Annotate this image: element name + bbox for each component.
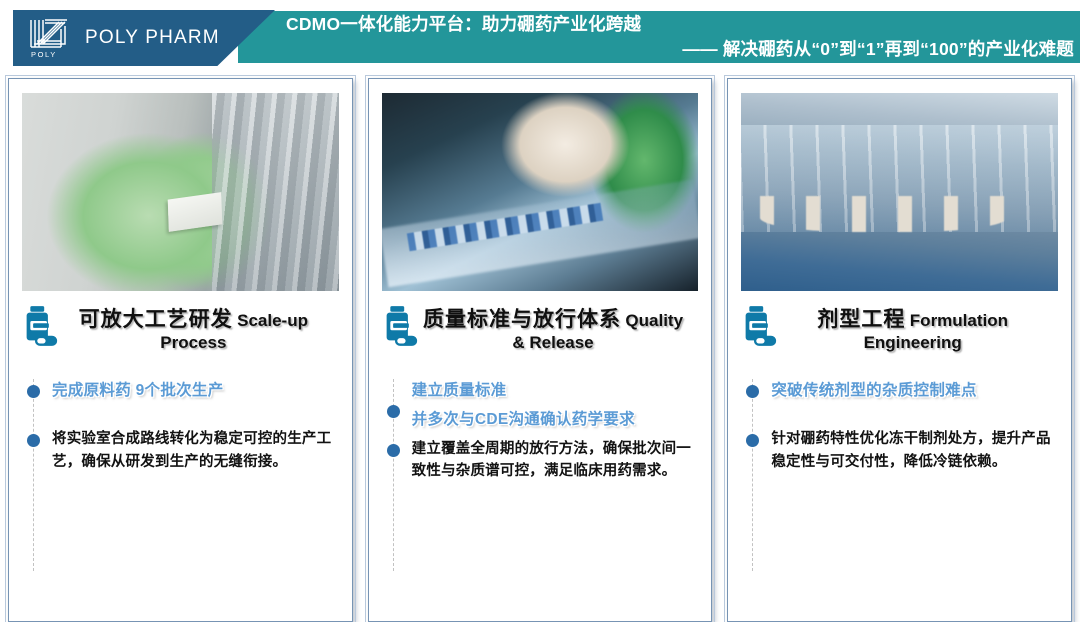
bullet-dot-icon <box>387 405 400 418</box>
card-title-cn: 剂型工程 <box>817 308 905 331</box>
card-title-group: 质量标准与放行体系 Quality & Release <box>422 303 699 353</box>
page-title-line2: —— 解决硼药从“0”到“1”再到“100”的产业化难题 <box>272 37 1078 62</box>
card-scale-up-process[interactable]: 可放大工艺研发 Scale-up Process 完成原料药 9个批次生产 将实… <box>8 78 353 622</box>
card-formulation-engineering[interactable]: 剂型工程 Formulation Engineering 突破传统剂型的杂质控制… <box>727 78 1072 622</box>
card-photo <box>382 93 699 291</box>
medicine-bottle-icon <box>22 305 62 353</box>
brand-block: POLY POLY PHARM <box>13 10 275 66</box>
medicine-bottle-icon <box>741 305 781 353</box>
card-bullet-list: 突破传统剂型的杂质控制难点 针对硼药特性优化冻干制剂处方，提升产品稳定性与可交付… <box>741 379 1058 611</box>
bullet-text: 建立质量标准 <box>412 382 507 399</box>
bullet-item: 建立质量标准 <box>412 379 699 402</box>
card-title-group: 可放大工艺研发 Scale-up Process <box>62 303 339 353</box>
card-bullet-list: 建立质量标准 并多次与CDE沟通确认药学要求 建立覆盖全周期的放行方法，确保批次… <box>382 379 699 611</box>
logo-mark-caption: POLY <box>31 50 57 59</box>
poly-monogram-icon: POLY <box>27 17 71 59</box>
card-photo <box>22 93 339 291</box>
bullet-item: 完成原料药 9个批次生产 <box>52 379 339 402</box>
bullet-item: 将实验室合成路线转化为稳定可控的生产工艺，确保从研发到生产的无缝衔接。 <box>52 428 339 473</box>
medicine-bottle-icon <box>382 305 422 353</box>
bullet-text: 将实验室合成路线转化为稳定可控的生产工艺，确保从研发到生产的无缝衔接。 <box>52 431 331 470</box>
bullet-dot-icon <box>746 385 759 398</box>
card-heading: 质量标准与放行体系 Quality & Release <box>382 303 699 365</box>
page-header: POLY POLY PHARM CDMO一体化能力平台：助力硼药产业化跨越 ——… <box>0 0 1080 72</box>
bullet-dot-icon <box>746 434 759 447</box>
bullet-text: 针对硼药特性优化冻干制剂处方，提升产品稳定性与可交付性，降低冷链依赖。 <box>771 431 1050 470</box>
card-bullet-list: 完成原料药 9个批次生产 将实验室合成路线转化为稳定可控的生产工艺，确保从研发到… <box>22 379 339 611</box>
bullet-text: 突破传统剂型的杂质控制难点 <box>771 382 976 399</box>
bullet-item: 突破传统剂型的杂质控制难点 <box>771 379 1058 402</box>
card-title-cn: 可放大工艺研发 <box>79 308 233 331</box>
bullet-text: 完成原料药 9个批次生产 <box>52 382 224 399</box>
page-title-line1: CDMO一体化能力平台：助力硼药产业化跨越 <box>272 12 1078 37</box>
card-title-group: 剂型工程 Formulation Engineering <box>781 303 1058 353</box>
card-quality-release[interactable]: 质量标准与放行体系 Quality & Release 建立质量标准 并多次与C… <box>368 78 713 622</box>
bullet-dot-icon <box>387 444 400 457</box>
bullet-item: 建立覆盖全周期的放行方法，确保批次间一致性与杂质谱可控，满足临床用药需求。 <box>412 438 699 483</box>
timeline-dashed-line <box>33 379 34 571</box>
bullet-item: 针对硼药特性优化冻干制剂处方，提升产品稳定性与可交付性，降低冷链依赖。 <box>771 428 1058 473</box>
card-photo <box>741 93 1058 291</box>
bullet-text: 并多次与CDE沟通确认药学要求 <box>412 411 635 428</box>
page-title: CDMO一体化能力平台：助力硼药产业化跨越 —— 解决硼药从“0”到“1”再到“… <box>272 12 1078 62</box>
bullet-dot-icon <box>27 434 40 447</box>
card-heading: 剂型工程 Formulation Engineering <box>741 303 1058 365</box>
bullet-item: 并多次与CDE沟通确认药学要求 <box>412 408 699 431</box>
brand-wordmark: POLY PHARM <box>85 27 220 49</box>
card-title-cn: 质量标准与放行体系 <box>423 308 621 331</box>
bullet-dot-icon <box>27 385 40 398</box>
capability-cards: 可放大工艺研发 Scale-up Process 完成原料药 9个批次生产 将实… <box>0 78 1080 622</box>
card-heading: 可放大工艺研发 Scale-up Process <box>22 303 339 365</box>
bullet-text: 建立覆盖全周期的放行方法，确保批次间一致性与杂质谱可控，满足临床用药需求。 <box>412 441 691 480</box>
timeline-dashed-line <box>752 379 753 571</box>
